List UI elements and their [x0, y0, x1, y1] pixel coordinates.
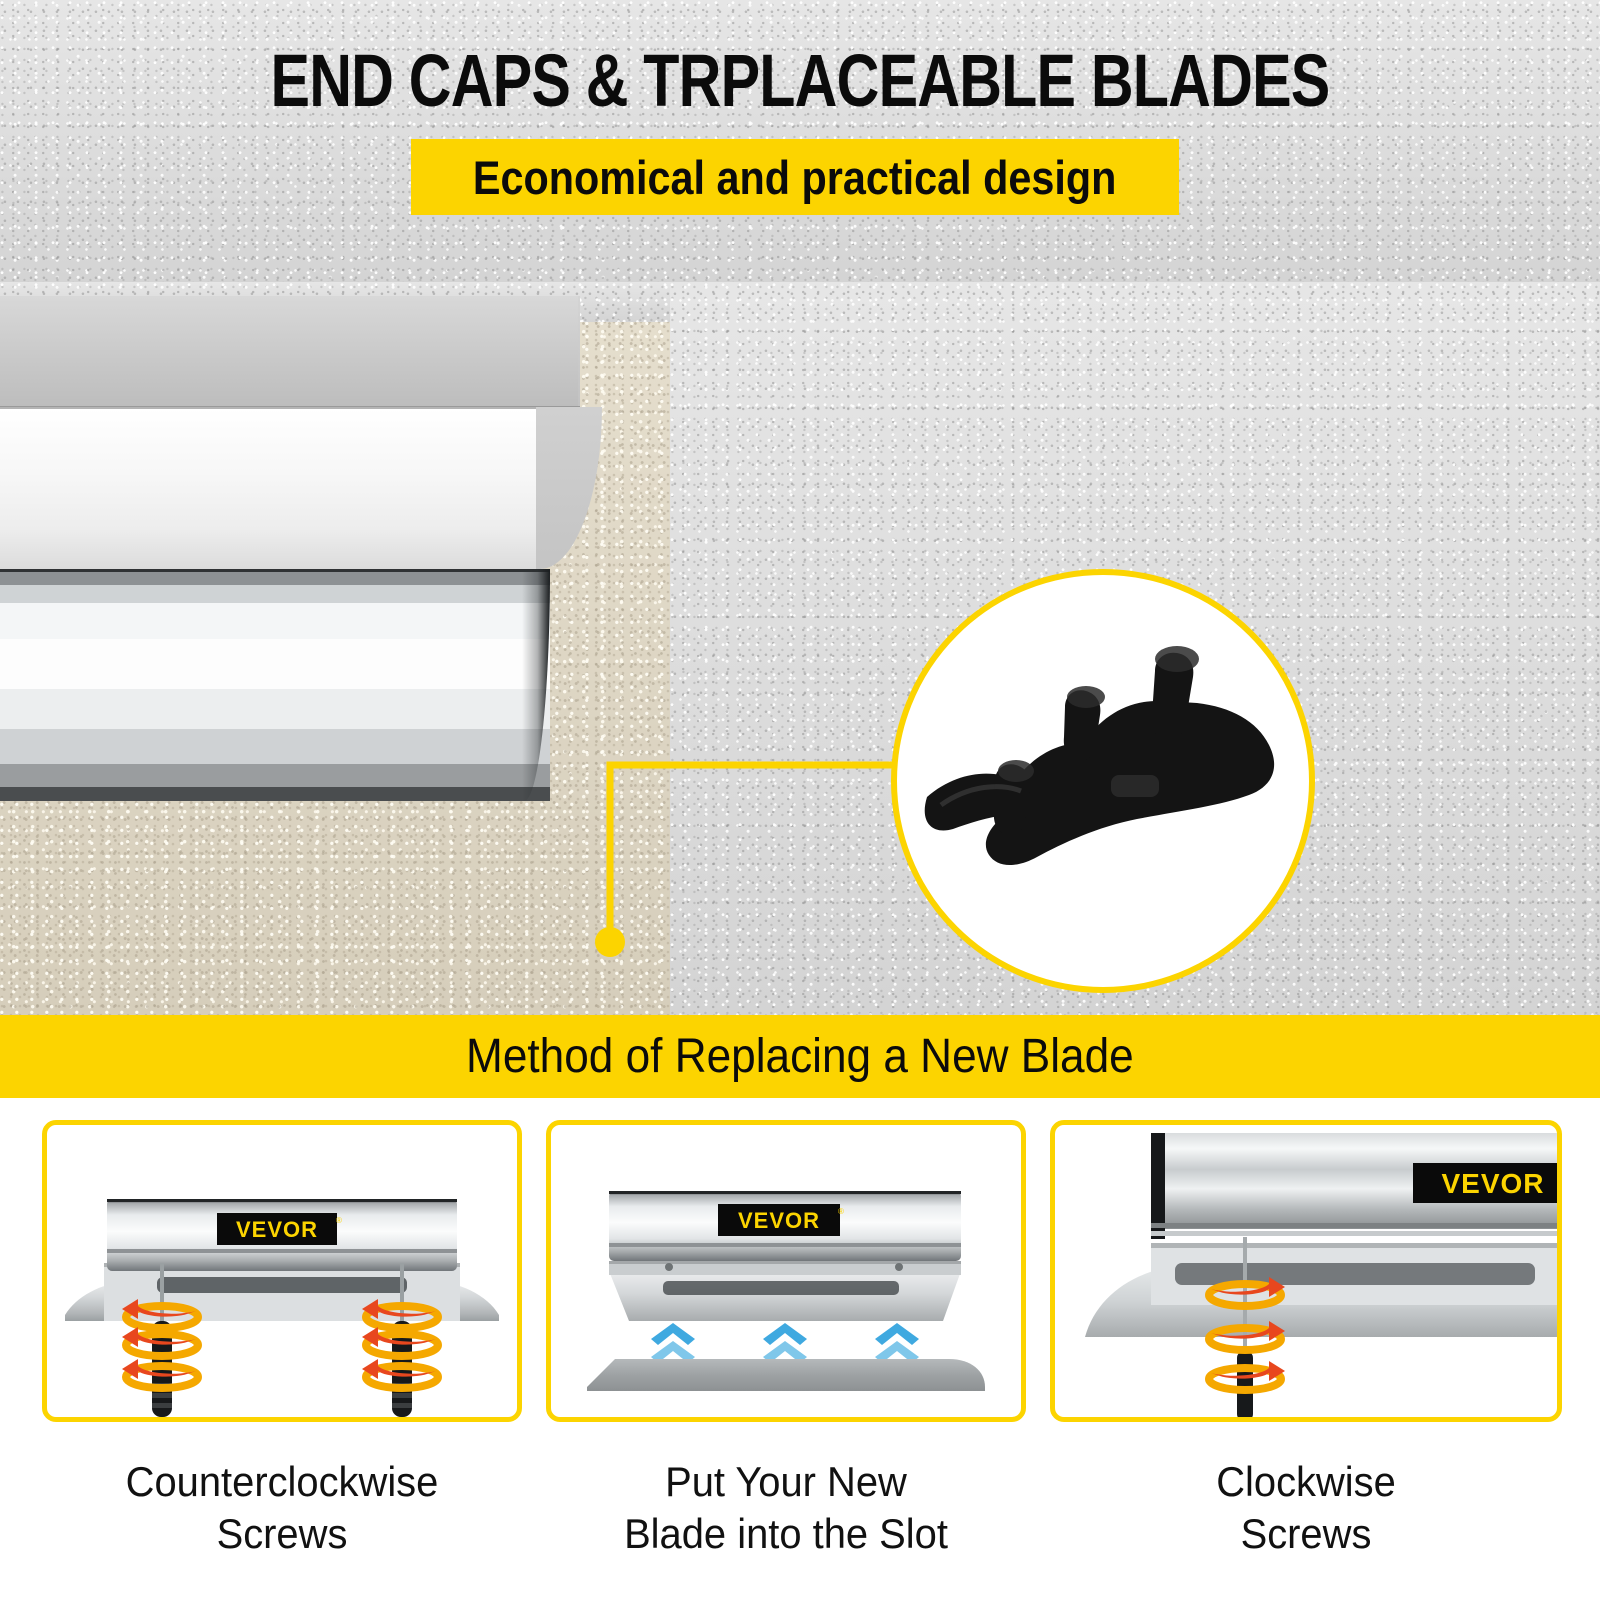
step-image-panel: VEVOR ®: [546, 1120, 1026, 1422]
step-caption-line-1: Counterclockwise: [54, 1456, 510, 1508]
step-card-counterclockwise[interactable]: VEVOR ®: [42, 1120, 522, 1560]
page-title: END CAPS & TRPLACEABLE BLADES: [160, 44, 1440, 118]
svg-text:VEVOR: VEVOR: [1441, 1168, 1544, 1199]
callout-circle: [891, 569, 1315, 993]
section-divider-label: Method of Replacing a New Blade: [466, 1033, 1134, 1081]
hero-section: Composite End Caps Prevent accumulating …: [0, 282, 1600, 1015]
svg-text:®: ®: [336, 1216, 342, 1225]
subtitle-highlight-box: Economical and practical design: [411, 139, 1179, 215]
step-image-panel: VEVOR ®: [42, 1120, 522, 1422]
blade-face-panel: [0, 407, 540, 569]
header-section: END CAPS & TRPLACEABLE BLADES Economical…: [0, 0, 1600, 282]
blade-back-plate: [0, 296, 580, 407]
step-caption-line-2: Screws: [1063, 1508, 1549, 1560]
step-caption-line-2: Blade into the Slot: [558, 1508, 1014, 1560]
step-caption-line-1: Put Your New: [558, 1456, 1014, 1508]
product-photo: [0, 282, 670, 1015]
section-divider-band: Method of Replacing a New Blade: [0, 1015, 1600, 1098]
step-caption: Counterclockwise Screws: [42, 1456, 522, 1560]
blade-handle-tube: [0, 569, 550, 801]
steps-section: VEVOR ®: [0, 1098, 1600, 1600]
svg-text:®: ®: [838, 1207, 844, 1216]
insert-blade-illustration: VEVOR ®: [551, 1125, 1021, 1417]
step-caption: Clockwise Screws: [1050, 1456, 1562, 1560]
svg-text:VEVOR: VEVOR: [236, 1217, 318, 1242]
counterclockwise-illustration: VEVOR ®: [47, 1125, 517, 1417]
step-image-panel: VEVOR: [1050, 1120, 1562, 1422]
composite-end-cap-icon: [897, 575, 1309, 987]
clockwise-illustration: VEVOR: [1055, 1125, 1557, 1417]
step-caption-line-2: Screws: [54, 1508, 510, 1560]
step-card-insert-blade[interactable]: VEVOR ®: [546, 1120, 1026, 1560]
subtitle-text: Economical and practical design: [473, 154, 1117, 201]
product-infographic: END CAPS & TRPLACEABLE BLADES Economical…: [0, 0, 1600, 1600]
skimming-blade-product: [0, 282, 670, 842]
step-card-clockwise[interactable]: VEVOR: [1050, 1120, 1530, 1560]
step-caption-line-1: Clockwise: [1063, 1456, 1549, 1508]
step-caption: Put Your New Blade into the Slot: [546, 1456, 1026, 1560]
svg-text:VEVOR: VEVOR: [738, 1208, 820, 1233]
